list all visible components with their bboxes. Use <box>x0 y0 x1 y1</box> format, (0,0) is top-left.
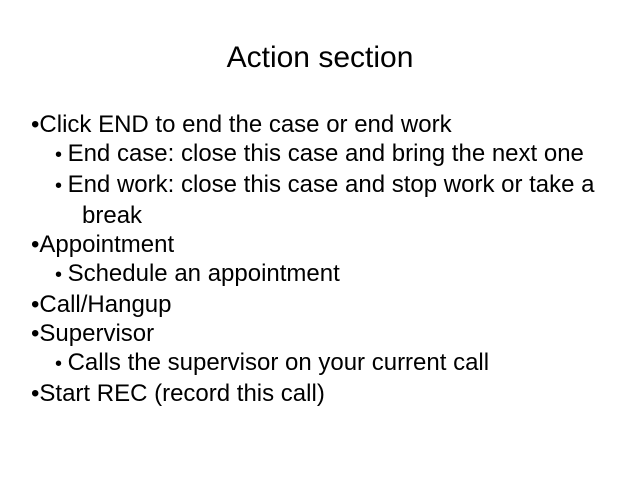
list-item: •End case: close this case and bring the… <box>55 139 614 170</box>
bullet-dot-icon: • <box>55 264 68 286</box>
list-item-label: Schedule an appointment <box>68 260 340 287</box>
list-item: •Start REC (record this call) <box>31 379 614 408</box>
list-item-label: Calls the supervisor on your current cal… <box>68 349 490 376</box>
bullet-dot-icon: • <box>55 353 68 375</box>
page-title: Action section <box>0 40 640 76</box>
list-item: •Appointment <box>31 230 614 259</box>
list-item-label: End work: close this case and stop work … <box>68 171 595 229</box>
presentation-slide: Action section •Click END to end the cas… <box>0 0 640 480</box>
bullet-dot-icon: • <box>55 144 68 166</box>
bullet-list: •Click END to end the case or end work •… <box>28 110 614 408</box>
list-item: •Click END to end the case or end work <box>31 110 614 139</box>
list-item-label: Appointment <box>39 231 174 258</box>
list-item-label: Start REC (record this call) <box>39 380 324 407</box>
list-item: •End work: close this case and stop work… <box>55 170 614 230</box>
list-item: •Schedule an appointment <box>55 259 614 290</box>
list-item: •Supervisor <box>31 319 614 348</box>
list-item-label: End case: close this case and bring the … <box>68 140 584 167</box>
bullet-dot-icon: • <box>55 175 68 197</box>
list-item-label: Supervisor <box>39 320 154 347</box>
list-item: •Calls the supervisor on your current ca… <box>55 348 614 379</box>
list-item-label: Call/Hangup <box>39 291 171 318</box>
list-item: •Call/Hangup <box>31 290 614 319</box>
list-item-label: Click END to end the case or end work <box>39 111 451 138</box>
